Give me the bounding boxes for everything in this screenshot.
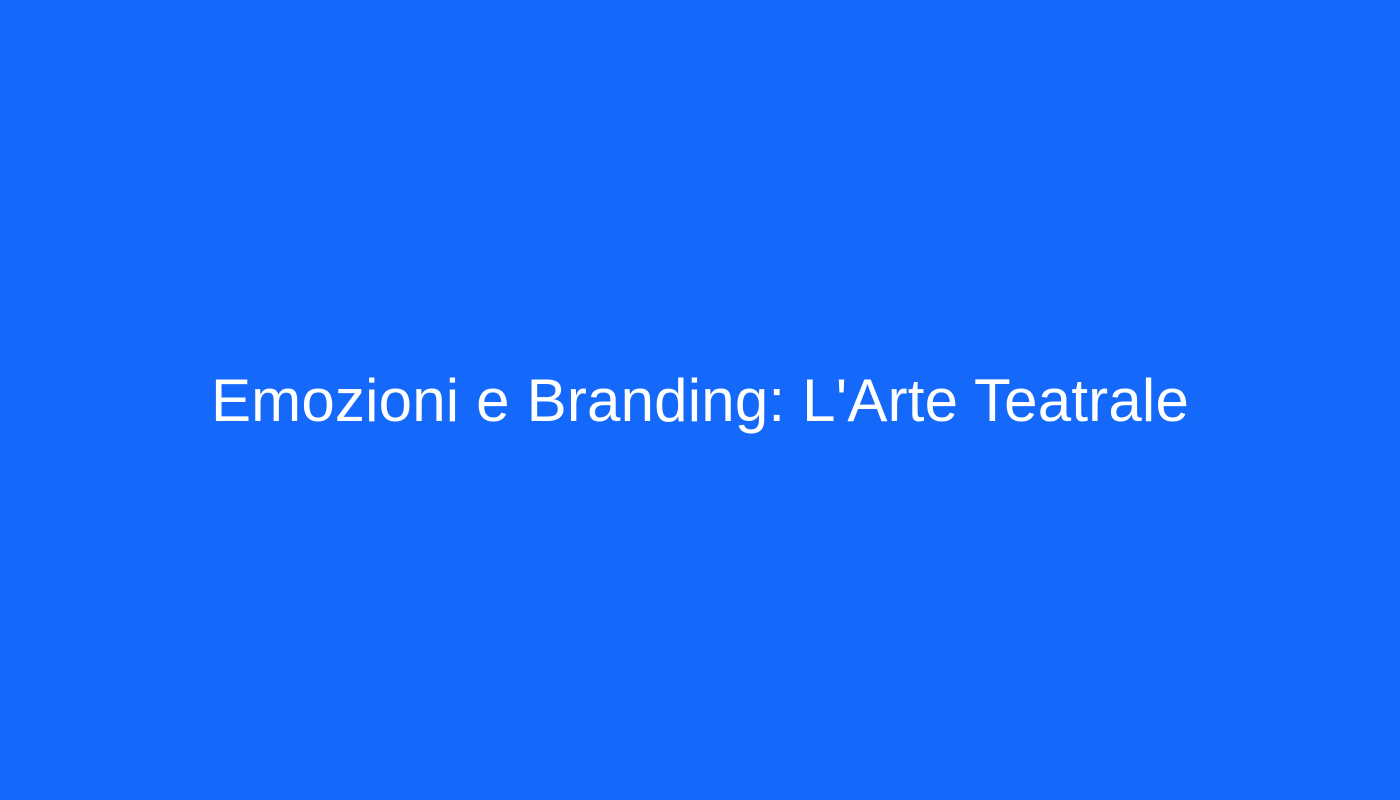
hero-content: Emozioni e Branding: L'Arte Teatrale (0, 366, 1400, 435)
page-title: Emozioni e Branding: L'Arte Teatrale (40, 366, 1360, 435)
hero-banner: Emozioni e Branding: L'Arte Teatrale (0, 0, 1400, 800)
